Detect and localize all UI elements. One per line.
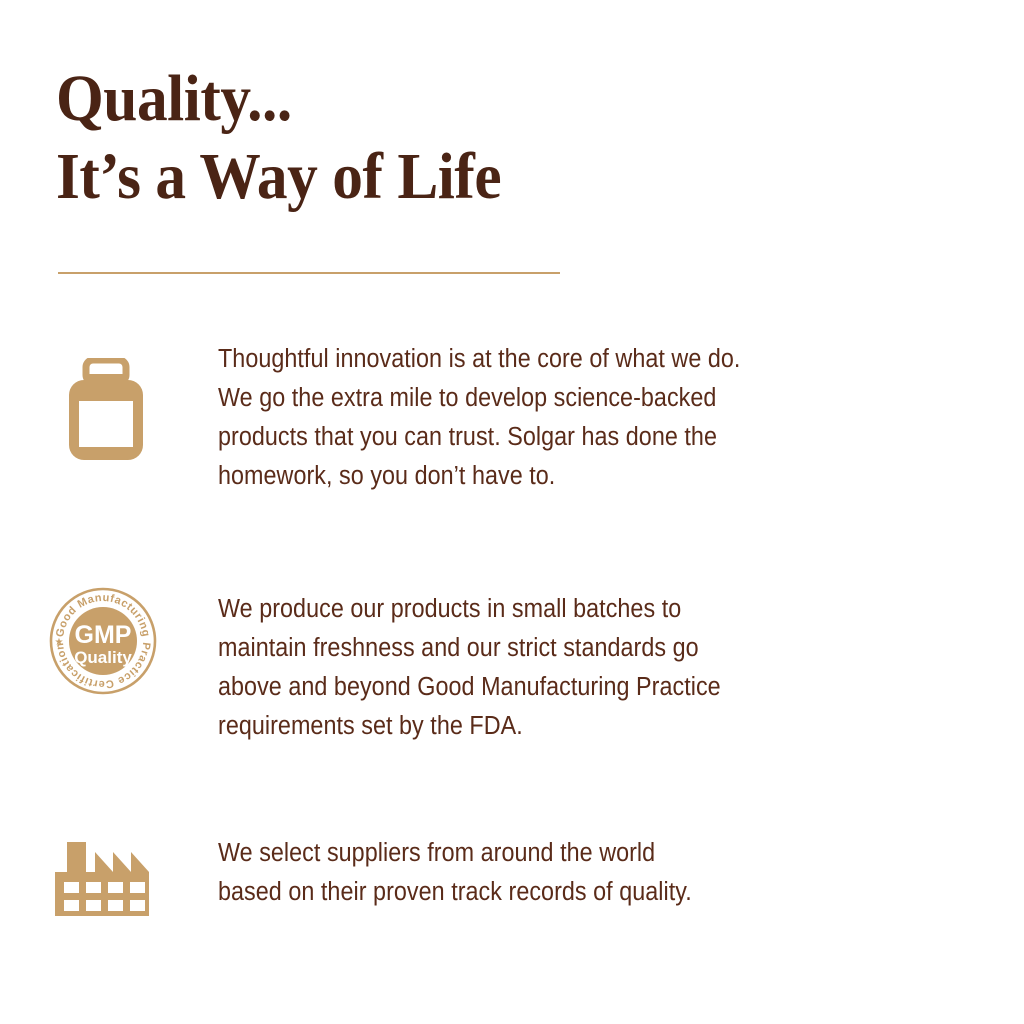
page-title: Quality... It’s a Way of Life <box>56 62 936 214</box>
seal-center-gmp: GMP <box>75 621 132 649</box>
feature-text-cell: We select suppliers from around the worl… <box>218 834 1024 912</box>
feature-description: We select suppliers from around the worl… <box>218 834 952 912</box>
feature-text-cell: Thoughtful innovation is at the core of … <box>218 340 1024 496</box>
factory-icon <box>55 842 153 916</box>
seal-center-quality: Quality <box>74 648 132 667</box>
feature-icon-cell <box>0 834 218 916</box>
supplement-bottle-icon <box>67 358 145 462</box>
feature-icon-cell: Good Manufacturing Practice Certificatio… <box>0 590 218 695</box>
feature-icon-cell <box>0 340 218 462</box>
title-divider <box>58 272 560 274</box>
quality-promise-panel: Quality... It’s a Way of Life <box>0 0 1024 1024</box>
gmp-quality-seal-icon: Good Manufacturing Practice Certificatio… <box>49 587 157 695</box>
list-item: Thoughtful innovation is at the core of … <box>0 340 1024 496</box>
seal-star-icon: ★ <box>55 637 64 648</box>
list-item: We select suppliers from around the worl… <box>0 834 1024 916</box>
headline-line-2: It’s a Way of Life <box>56 140 874 214</box>
feature-list: Thoughtful innovation is at the core of … <box>0 340 1024 916</box>
list-item: Good Manufacturing Practice Certificatio… <box>0 590 1024 746</box>
feature-description: We produce our products in small batches… <box>218 590 952 746</box>
feature-description: Thoughtful innovation is at the core of … <box>218 340 952 496</box>
headline-line-1: Quality... <box>56 62 874 136</box>
feature-text-cell: We produce our products in small batches… <box>218 590 1024 746</box>
